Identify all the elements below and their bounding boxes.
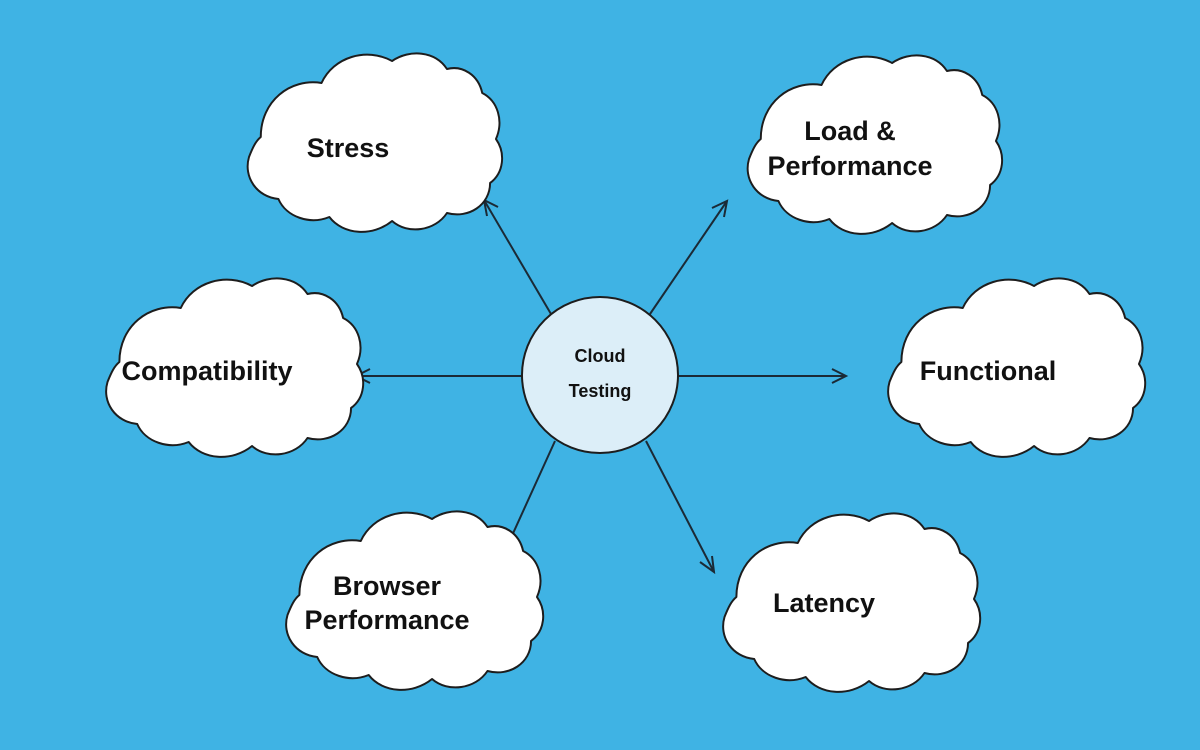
hub-ellipse <box>522 297 678 453</box>
node-load-performance[interactable]: Load & Performance <box>748 55 1002 233</box>
cloud-icon <box>723 513 980 691</box>
node-compatibility[interactable]: Compatibility <box>106 278 363 456</box>
connector-latency <box>646 441 714 572</box>
node-browser-performance[interactable]: Browser Performance <box>286 511 543 689</box>
connector-load-performance <box>650 201 727 314</box>
hub-node-cloud-testing[interactable]: Cloud Testing <box>522 297 678 453</box>
connector-functional <box>678 369 846 383</box>
node-functional[interactable]: Functional <box>888 278 1145 456</box>
cloud-icon <box>888 278 1145 456</box>
node-latency[interactable]: Latency <box>723 513 980 691</box>
connector-compatibility <box>356 369 522 383</box>
cloud-icon <box>286 511 543 689</box>
cloud-icon <box>106 278 363 456</box>
node-stress[interactable]: Stress <box>248 53 502 231</box>
cloud-icon <box>748 55 1002 233</box>
cloud-icon <box>248 53 502 231</box>
diagram-canvas: Stress Load & Performance Compatibility … <box>0 0 1200 750</box>
connector-stress <box>484 200 551 314</box>
cloud-testing-diagram: Stress Load & Performance Compatibility … <box>0 0 1200 750</box>
